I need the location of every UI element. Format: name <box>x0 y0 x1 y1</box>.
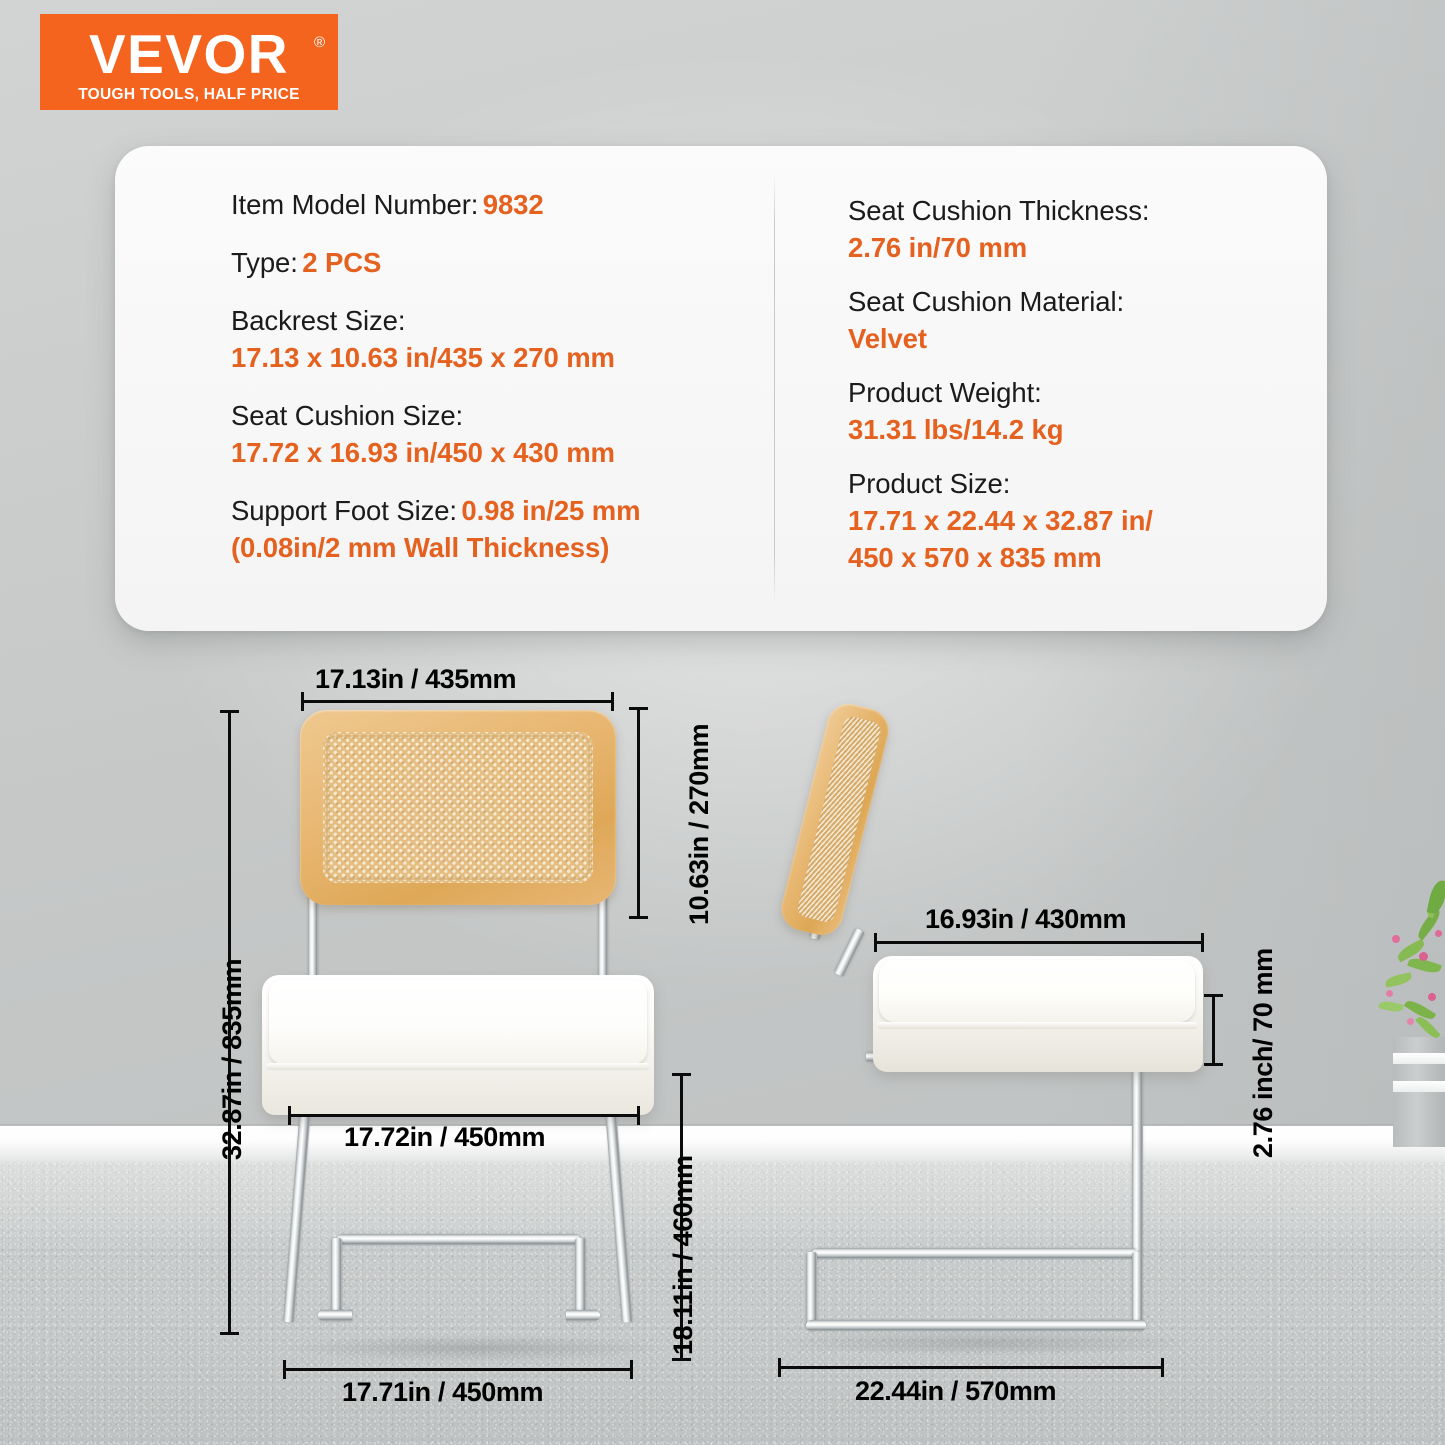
front-base-left-post <box>331 1238 342 1320</box>
spec-column-left: Item Model Number: 9832 Type: 2 PCS Back… <box>231 186 751 587</box>
pot-band-upper <box>1393 1053 1445 1064</box>
spec-value: 31.31 lbs/14.2 kg <box>848 411 1268 448</box>
registered-trademark-icon: ® <box>314 34 325 51</box>
vevor-logo: VEVOR ® TOUGH TOOLS, HALF PRICE <box>40 14 338 110</box>
spec-row-item-model-number: Item Model Number: 9832 <box>231 186 751 223</box>
dimline-base-depth <box>778 1366 1164 1369</box>
dimlabel-backrest-height: 10.63in / 270mm <box>684 724 715 925</box>
spec-row-type: Type: 2 PCS <box>231 244 751 281</box>
cane-inner-border <box>326 735 590 880</box>
spec-column-right: Seat Cushion Thickness: 2.76 in/70 mm Se… <box>848 192 1268 593</box>
specification-panel: Item Model Number: 9832 Type: 2 PCS Back… <box>115 146 1327 631</box>
dimlabel-cushion-thickness: 2.76 inch/ 70 mm <box>1248 948 1279 1158</box>
seat-cushion-piping <box>266 1063 650 1070</box>
dimline-base-width <box>283 1368 633 1371</box>
front-foot-left <box>318 1310 352 1321</box>
dimlabel-total-height: 32.87in / 835mm <box>217 959 248 1160</box>
spec-value-secondary: 450 x 570 x 835 mm <box>848 539 1268 576</box>
dimline-backrest-height <box>637 707 640 919</box>
backrest-rattan-panel <box>300 710 616 905</box>
dimlabel-base-depth: 22.44in / 570mm <box>855 1376 1056 1407</box>
chair-front-shadow <box>285 1335 665 1361</box>
dimline-cushion-thickness <box>1212 994 1215 1066</box>
spec-value: 17.71 x 22.44 x 32.87 in/ <box>848 502 1268 539</box>
spec-row-product-size: Product Size: 17.71 x 22.44 x 32.87 in/ … <box>848 465 1268 576</box>
spec-value: Velvet <box>848 320 1268 357</box>
spec-row-seat-cushion-size: Seat Cushion Size: 17.72 x 16.93 in/450 … <box>231 397 751 471</box>
dimlabel-backrest-width: 17.13in / 435mm <box>315 664 516 695</box>
dimlabel-seat-depth: 16.93in / 430mm <box>925 904 1126 935</box>
spec-row-support-foot-size: Support Foot Size: 0.98 in/25 mm (0.08in… <box>231 492 751 566</box>
spec-value: 9832 <box>483 189 544 220</box>
spec-value: 17.72 x 16.93 in/450 x 430 mm <box>231 434 751 471</box>
spec-row-seat-cushion-thickness: Seat Cushion Thickness: 2.76 in/70 mm <box>848 192 1268 266</box>
seat-cushion-top-surface <box>269 980 647 1064</box>
spec-value: 2.76 in/70 mm <box>848 229 1268 266</box>
pot-band-lower <box>1393 1081 1445 1092</box>
front-base-right-post <box>575 1238 586 1320</box>
side-base-front-post <box>1132 1252 1143 1330</box>
plant-pot <box>1393 1037 1445 1147</box>
logo-tagline: TOUGH TOOLS, HALF PRICE <box>40 86 338 104</box>
seat-cushion-front <box>262 975 654 1115</box>
side-base-rear-post <box>806 1252 817 1330</box>
chair-side-shadow <box>775 1330 1195 1356</box>
seat-cushion-piping-side <box>877 1022 1198 1029</box>
dimlabel-base-width: 17.71in / 450mm <box>342 1377 543 1408</box>
dimline-seat-width <box>288 1114 640 1117</box>
column-divider <box>774 172 775 604</box>
front-foot-right <box>566 1310 600 1321</box>
side-base-top-rail <box>812 1248 1138 1259</box>
front-base-crossbar <box>337 1234 580 1245</box>
seat-cushion-top-surface-side <box>879 960 1195 1022</box>
floor-highlight <box>0 1162 1445 1252</box>
seat-cushion-side <box>873 956 1203 1072</box>
spec-row-seat-cushion-material: Seat Cushion Material: Velvet <box>848 283 1268 357</box>
spec-value: 2 PCS <box>302 247 381 278</box>
spec-label: Support Foot Size: <box>231 495 457 526</box>
dimline-seat-depth <box>874 941 1204 944</box>
spec-label: Item Model Number: <box>231 189 478 220</box>
spec-label: Seat Cushion Thickness: <box>848 192 1268 229</box>
spec-value-secondary: (0.08in/2 mm Wall Thickness) <box>231 529 751 566</box>
spec-value: 17.13 x 10.63 in/435 x 270 mm <box>231 339 751 376</box>
backrest-cane-area <box>323 732 593 883</box>
spec-label: Product Size: <box>848 465 1268 502</box>
side-front-leg <box>1132 1058 1143 1258</box>
spec-label: Type: <box>231 247 298 278</box>
spec-row-backrest-size: Backrest Size: 17.13 x 10.63 in/435 x 27… <box>231 302 751 376</box>
spec-label: Seat Cushion Size: <box>231 397 751 434</box>
spec-label: Backrest Size: <box>231 302 751 339</box>
spec-label: Product Weight: <box>848 374 1268 411</box>
spec-label: Seat Cushion Material: <box>848 283 1268 320</box>
dimline-backrest-width <box>301 700 614 703</box>
spec-row-product-weight: Product Weight: 31.31 lbs/14.2 kg <box>848 374 1268 448</box>
spec-value: 0.98 in/25 mm <box>461 495 640 526</box>
spec-line-primary: Support Foot Size: 0.98 in/25 mm <box>231 492 751 529</box>
product-spec-image: VEVOR ® TOUGH TOOLS, HALF PRICE Item Mod… <box>0 0 1445 1445</box>
dimlabel-seat-height: 18.11in / 460mm <box>668 1155 699 1355</box>
dimlabel-seat-width: 17.72in / 450mm <box>344 1122 545 1153</box>
logo-wordmark: VEVOR <box>40 27 338 81</box>
